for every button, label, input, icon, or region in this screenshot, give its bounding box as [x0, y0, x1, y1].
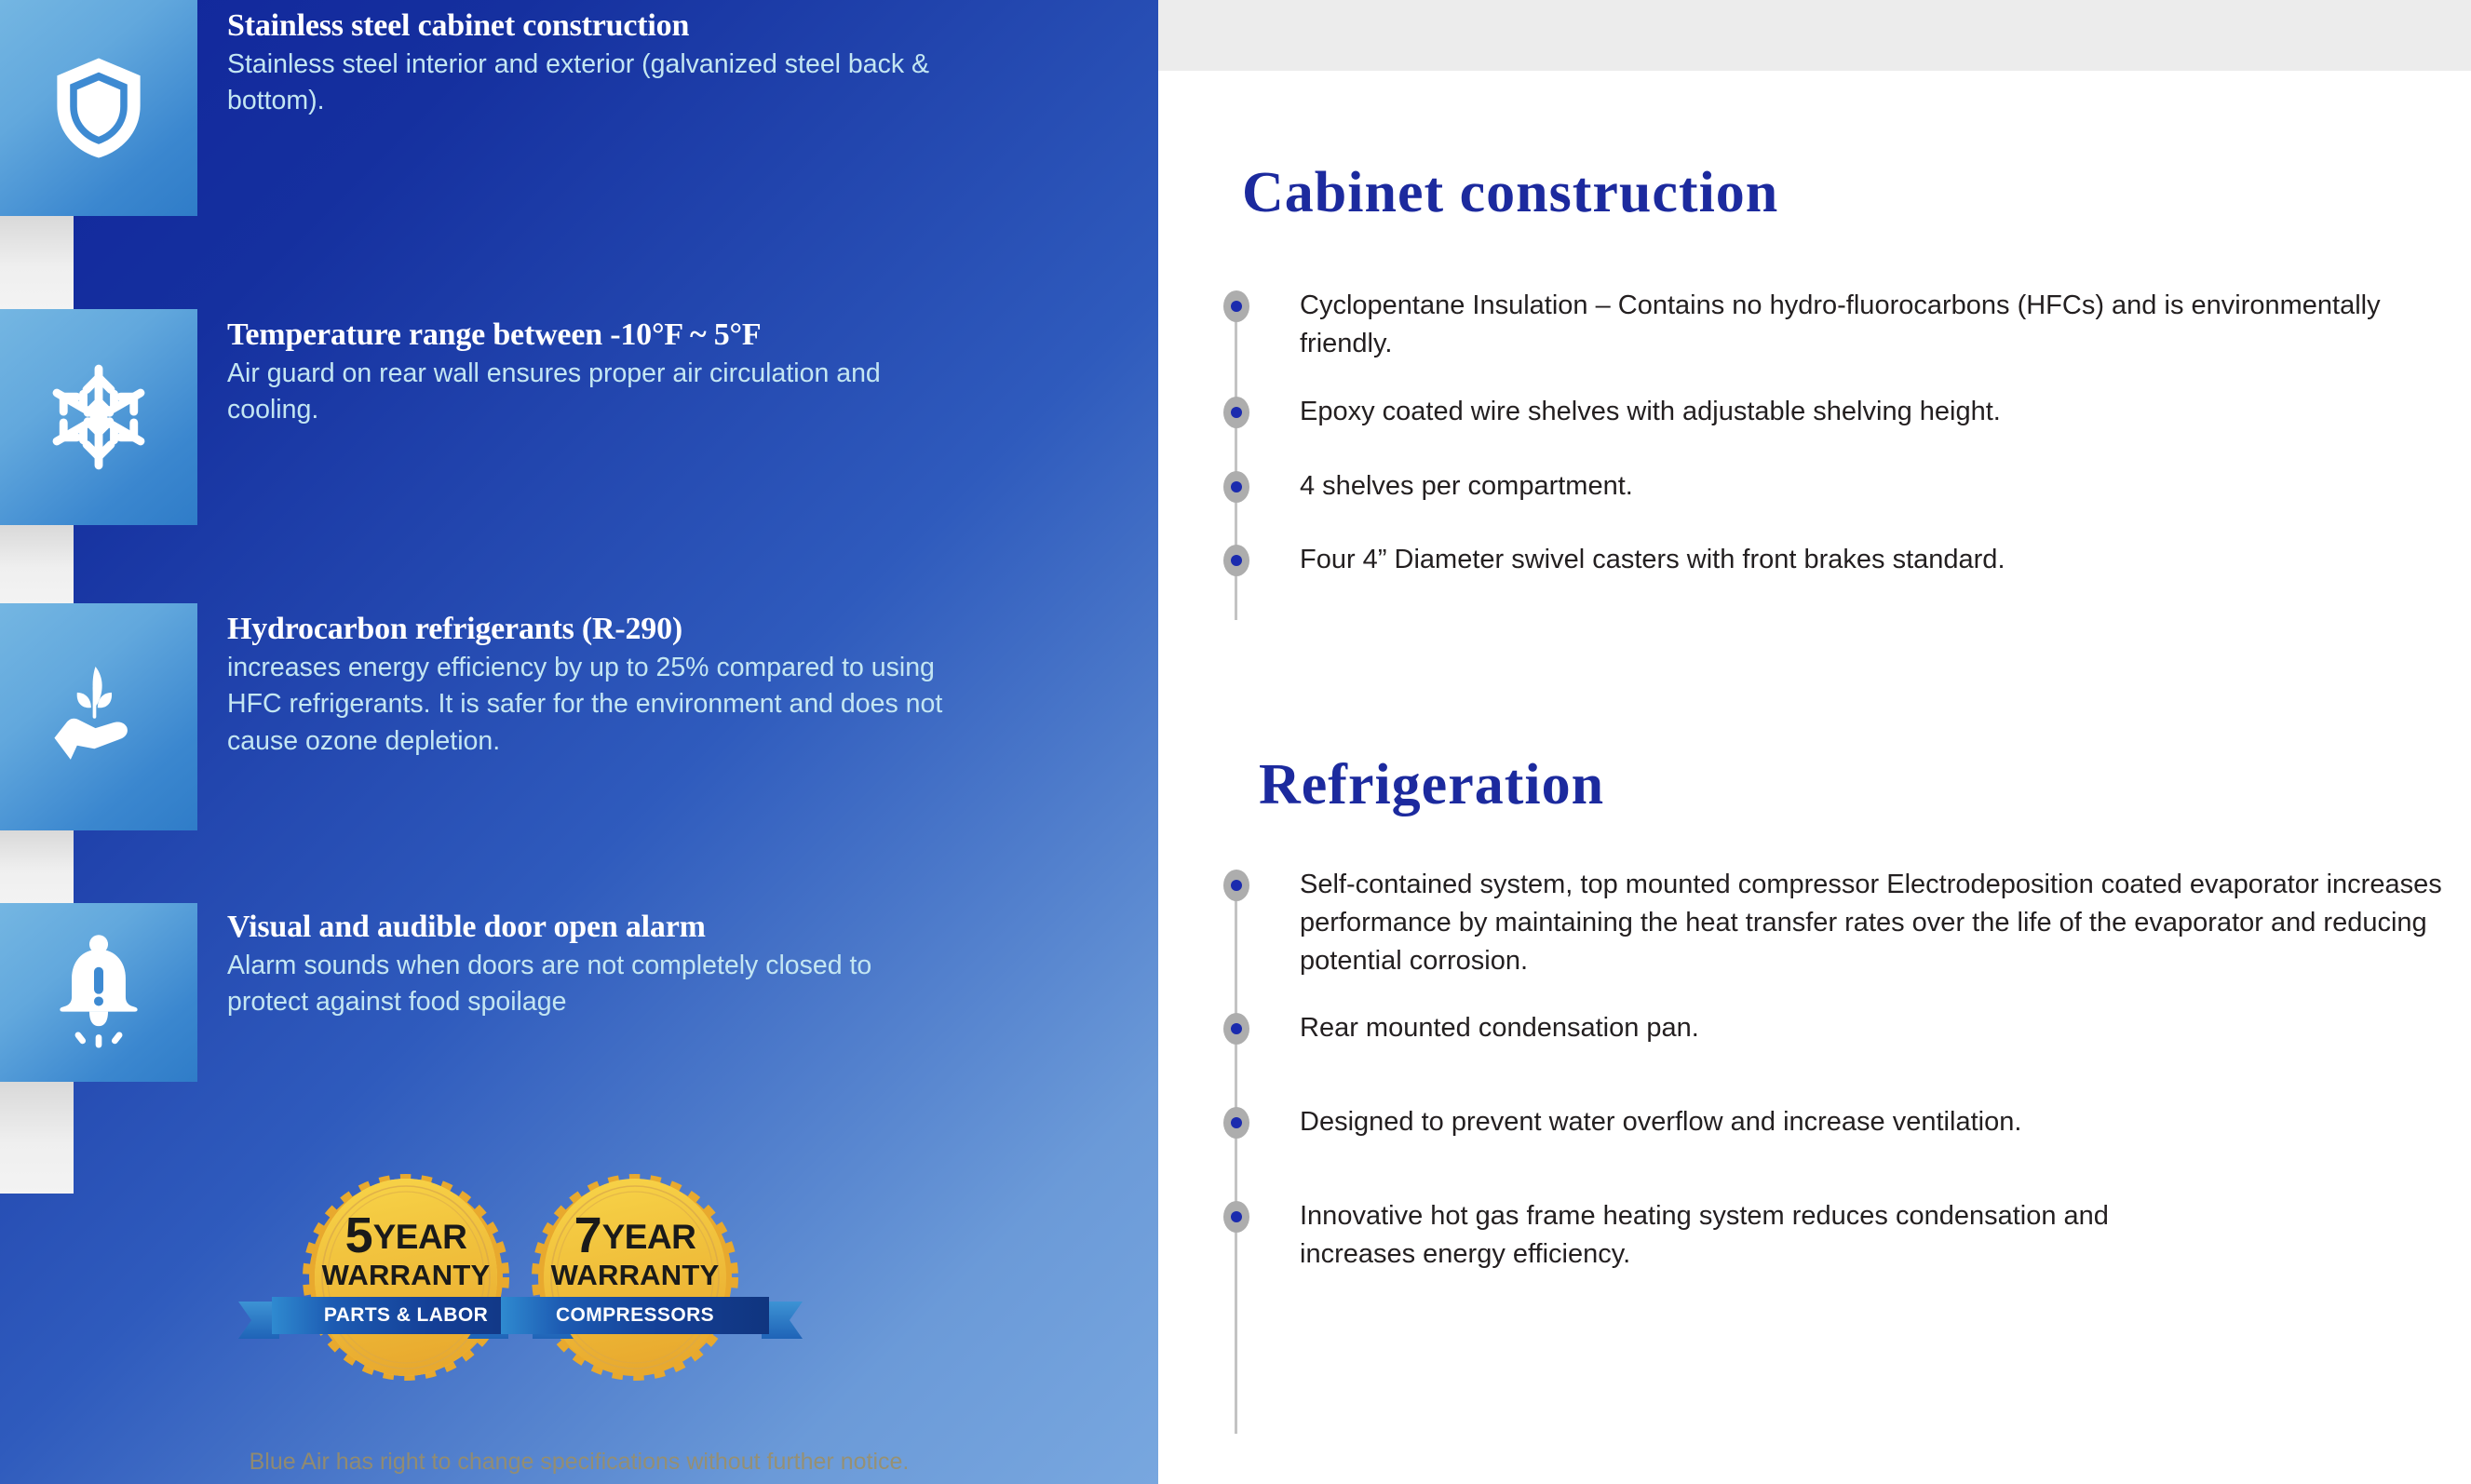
- bullet-text: 4 shelves per compartment.: [1300, 467, 2434, 506]
- list-item: Rear mounted condensation pan.: [1214, 1009, 2462, 1047]
- bullet-marker-icon: [1223, 545, 1249, 576]
- disclaimer-text: Blue Air has right to change specificati…: [0, 1449, 1158, 1476]
- snowflake-icon-tile: [0, 309, 197, 525]
- bullet-marker-icon: [1223, 471, 1249, 503]
- shield-icon-tile: [0, 0, 197, 216]
- feature-title: Temperature range between -10°F ~ 5°F: [227, 317, 953, 354]
- list-item: Cyclopentane Insulation – Contains no hy…: [1214, 287, 2434, 363]
- bullet-text: Designed to prevent water overflow and i…: [1300, 1103, 2462, 1141]
- warranty-year-label: YEAR: [602, 1218, 696, 1256]
- feature-description: increases energy efficiency by up to 25%…: [227, 650, 953, 760]
- hand-leaf-icon: [45, 660, 153, 774]
- bullet-marker-icon: [1223, 1201, 1249, 1233]
- section-title-cabinet-construction: Cabinet construction: [1242, 160, 1778, 226]
- bullet-marker-icon: [1223, 870, 1249, 901]
- bullet-text: Four 4” Diameter swivel casters with fro…: [1300, 541, 2434, 579]
- warranty-ribbon: PARTS & LABOR: [272, 1297, 540, 1334]
- warranty-word: WARRANTY: [495, 1259, 775, 1292]
- warranty-badge-compressors: 7YEAR WARRANTY COMPRESSORS: [495, 1173, 775, 1387]
- hand-leaf-icon-tile: [0, 603, 197, 830]
- bullet-marker-icon: [1223, 397, 1249, 428]
- ribbon-label: COMPRESSORS: [556, 1304, 714, 1327]
- shield-icon: [48, 54, 149, 162]
- list-item: Four 4” Diameter swivel casters with fro…: [1214, 541, 2434, 579]
- right-specs-panel: Cabinet construction Cyclopentane Insula…: [1158, 0, 2471, 1484]
- snowflake-icon: [44, 362, 154, 472]
- list-item: Self-contained system, top mounted compr…: [1214, 866, 2462, 981]
- feature-description: Air guard on rear wall ensures proper ai…: [227, 356, 953, 429]
- notch-strip-1: [0, 216, 74, 309]
- warranty-badges: 5YEAR WARRANTY PARTS & LABOR: [266, 1173, 918, 1387]
- alarm-bell-icon-tile: [0, 903, 197, 1082]
- infographic-page: Stainless steel cabinet construction Sta…: [0, 0, 2471, 1484]
- warranty-year-label: YEAR: [373, 1218, 467, 1256]
- list-item: 4 shelves per compartment.: [1214, 467, 2434, 506]
- list-item: Designed to prevent water overflow and i…: [1214, 1103, 2462, 1141]
- notch-strip-4: [0, 1082, 74, 1194]
- bullet-text: Self-contained system, top mounted compr…: [1300, 866, 2462, 981]
- notch-strip-3: [0, 830, 74, 903]
- bullet-text: Rear mounted condensation pan.: [1300, 1009, 2462, 1047]
- warranty-number: 5: [345, 1207, 373, 1263]
- feature-text-refrigerant: Hydrocarbon refrigerants (R-290) increas…: [227, 611, 953, 760]
- warranty-years: 7YEAR: [495, 1210, 775, 1261]
- list-item: Epoxy coated wire shelves with adjustabl…: [1214, 393, 2434, 431]
- feature-description: Stainless steel interior and exterior (g…: [227, 47, 953, 120]
- top-gray-band: [1158, 0, 2471, 71]
- feature-text-door-alarm: Visual and audible door open alarm Alarm…: [227, 909, 953, 1021]
- list-item: Innovative hot gas frame heating system …: [1214, 1197, 2462, 1274]
- feature-title: Stainless steel cabinet construction: [227, 7, 953, 45]
- bullet-text: Epoxy coated wire shelves with adjustabl…: [1300, 393, 2434, 431]
- bullet-marker-icon: [1223, 1013, 1249, 1045]
- bullet-list-cabinet-construction: Cyclopentane Insulation – Contains no hy…: [1214, 287, 2434, 579]
- feature-title: Hydrocarbon refrigerants (R-290): [227, 611, 953, 648]
- bullet-marker-icon: [1223, 290, 1249, 322]
- bullet-marker-icon: [1223, 1107, 1249, 1139]
- section-title-refrigeration: Refrigeration: [1259, 752, 1604, 818]
- bullet-text: Innovative hot gas frame heating system …: [1300, 1197, 2138, 1274]
- left-features-panel: Stainless steel cabinet construction Sta…: [0, 0, 1158, 1484]
- ribbon-label: PARTS & LABOR: [324, 1304, 488, 1327]
- bullet-text: Cyclopentane Insulation – Contains no hy…: [1300, 287, 2426, 363]
- bullet-list-refrigeration: Self-contained system, top mounted compr…: [1214, 866, 2462, 1274]
- feature-text-cabinet: Stainless steel cabinet construction Sta…: [227, 7, 953, 120]
- notch-strip-2: [0, 525, 74, 603]
- feature-title: Visual and audible door open alarm: [227, 909, 953, 946]
- alarm-bell-icon: [47, 933, 151, 1052]
- feature-text-temperature: Temperature range between -10°F ~ 5°F Ai…: [227, 317, 953, 429]
- warranty-number: 7: [574, 1207, 602, 1263]
- warranty-ribbon: COMPRESSORS: [501, 1297, 769, 1334]
- feature-description: Alarm sounds when doors are not complete…: [227, 948, 953, 1021]
